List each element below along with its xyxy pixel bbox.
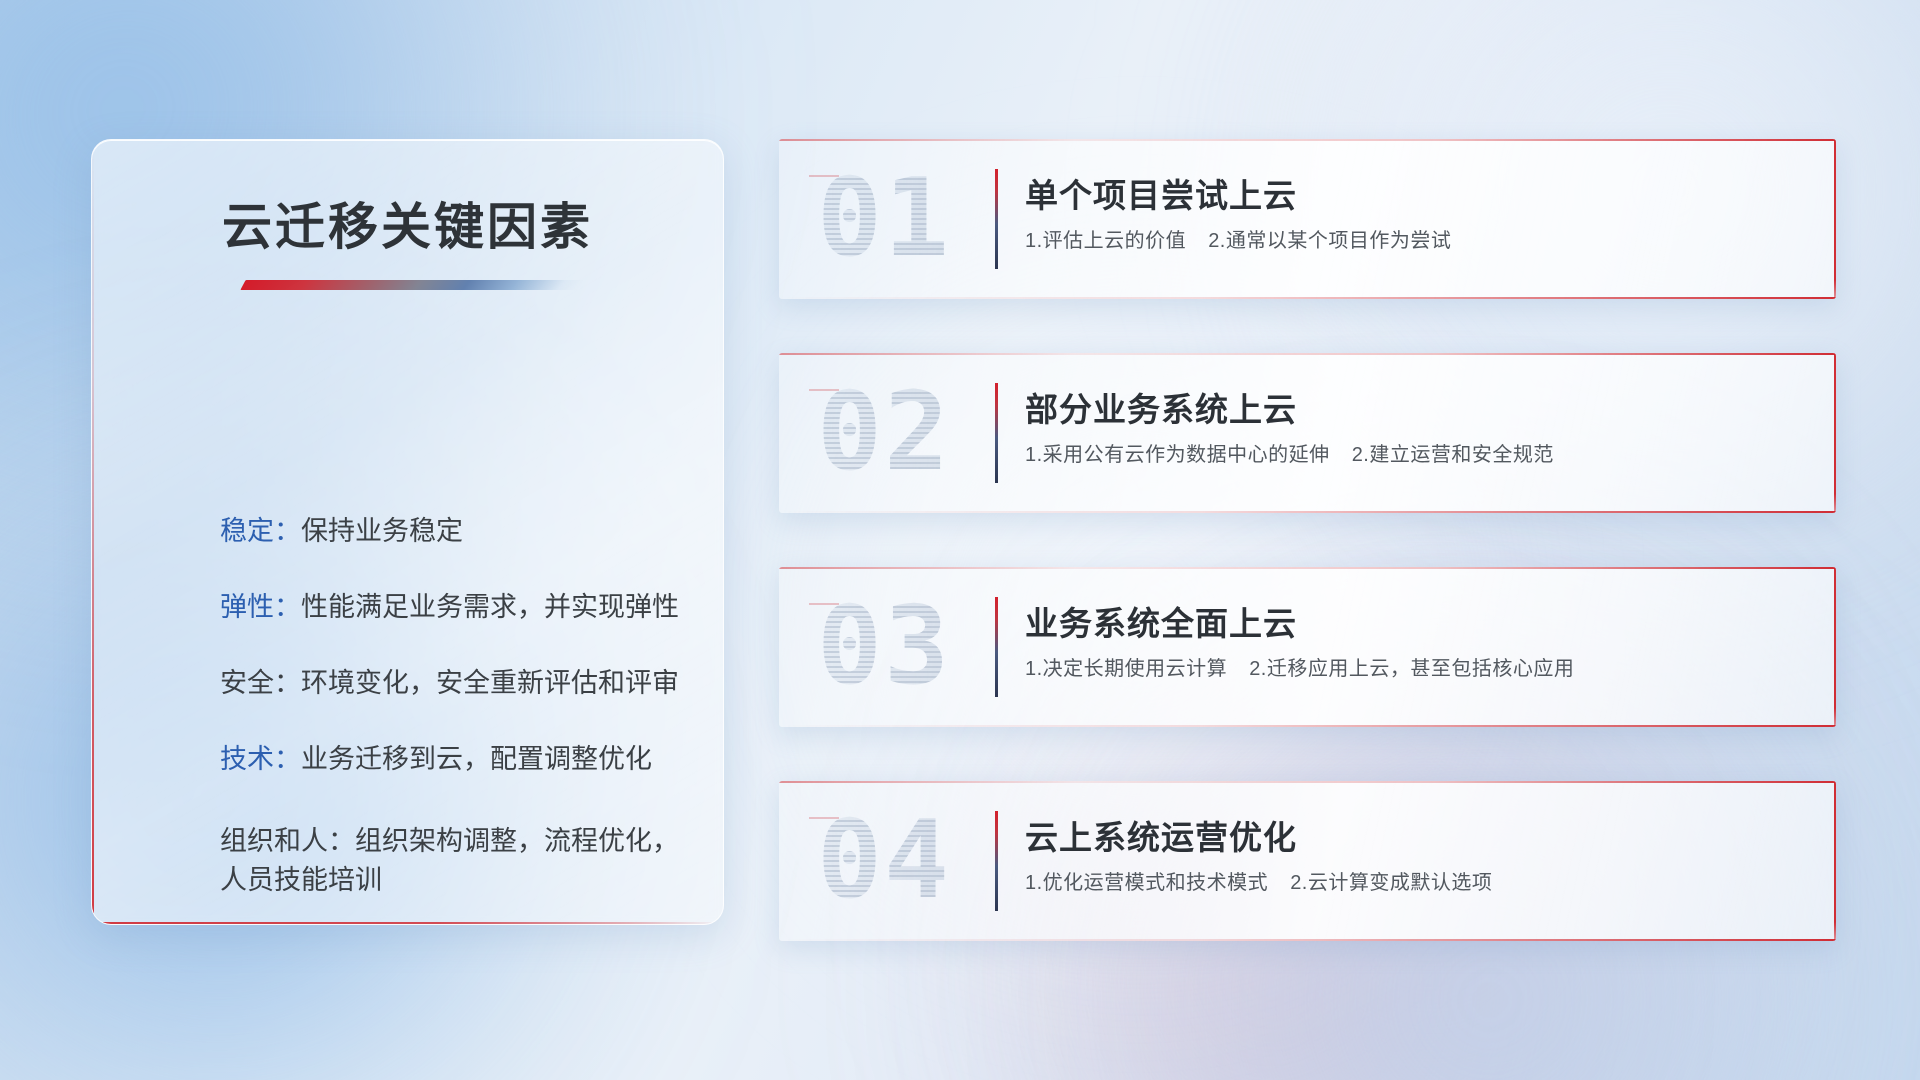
card-bottom-accent bbox=[779, 511, 1836, 513]
list-item-label: 稳定： bbox=[220, 516, 301, 546]
panel-bottom-accent bbox=[92, 922, 723, 924]
card-step-number: 04 bbox=[817, 795, 951, 927]
card-top-accent bbox=[779, 567, 1836, 569]
card-subtitle: 1.决定长期使用云计算2.迁移应用上云，甚至包括核心应用 bbox=[1025, 652, 1574, 681]
card-right-accent bbox=[1834, 781, 1836, 941]
migration-stage-cards: 01 单个项目尝试上云 1.评估上云的价值2.通常以某个项目作为尝试 02 部分… bbox=[779, 139, 1836, 941]
list-item-text: 保持业务稳定 bbox=[301, 516, 463, 546]
list-item: 组织和人：组织架构调整，流程优化，人员技能培训 bbox=[220, 822, 679, 901]
list-item-label: 组织和人： bbox=[220, 826, 355, 856]
card-right-accent bbox=[1834, 353, 1836, 513]
panel-title: 云迁移关键因素 bbox=[92, 187, 723, 259]
panel-title-underline bbox=[240, 280, 583, 290]
card-step-number: 01 bbox=[817, 153, 951, 285]
stage-card[interactable]: 01 单个项目尝试上云 1.评估上云的价值2.通常以某个项目作为尝试 bbox=[779, 139, 1836, 299]
card-subtitle-part-2: 2.迁移应用上云，甚至包括核心应用 bbox=[1249, 658, 1574, 680]
card-subtitle-part-2: 2.通常以某个项目作为尝试 bbox=[1208, 230, 1451, 252]
card-title: 云上系统运营优化 bbox=[1025, 811, 1297, 859]
card-subtitle: 1.评估上云的价值2.通常以某个项目作为尝试 bbox=[1025, 224, 1451, 253]
card-bottom-accent bbox=[779, 939, 1836, 941]
card-subtitle-part-1: 1.评估上云的价值 bbox=[1025, 230, 1186, 252]
card-subtitle-part-1: 1.采用公有云作为数据中心的延伸 bbox=[1025, 444, 1330, 466]
stage-card[interactable]: 04 云上系统运营优化 1.优化运营模式和技术模式2.云计算变成默认选项 bbox=[779, 781, 1836, 941]
card-subtitle-part-1: 1.决定长期使用云计算 bbox=[1025, 658, 1227, 680]
card-divider bbox=[995, 811, 998, 911]
card-title: 部分业务系统上云 bbox=[1025, 383, 1297, 431]
card-title: 单个项目尝试上云 bbox=[1025, 169, 1297, 217]
card-top-accent bbox=[779, 781, 1836, 783]
card-bottom-accent bbox=[779, 725, 1836, 727]
list-item-label: 安全： bbox=[220, 668, 301, 698]
list-item: 弹性：性能满足业务需求，并实现弹性 bbox=[220, 594, 679, 621]
card-divider bbox=[995, 383, 998, 483]
card-right-accent bbox=[1834, 567, 1836, 727]
card-subtitle: 1.优化运营模式和技术模式2.云计算变成默认选项 bbox=[1025, 866, 1492, 895]
list-item-label: 弹性： bbox=[220, 592, 301, 622]
list-item-text: 环境变化，安全重新评估和评审 bbox=[301, 668, 679, 698]
card-step-number: 02 bbox=[817, 367, 951, 499]
card-subtitle-part-1: 1.优化运营模式和技术模式 bbox=[1025, 872, 1268, 894]
key-factors-list: 稳定：保持业务稳定 弹性：性能满足业务需求，并实现弹性 安全：环境变化，安全重新… bbox=[220, 518, 679, 901]
list-item: 安全：环境变化，安全重新评估和评审 bbox=[220, 670, 679, 697]
card-divider bbox=[995, 597, 998, 697]
card-title: 业务系统全面上云 bbox=[1025, 597, 1297, 645]
card-subtitle-part-2: 2.云计算变成默认选项 bbox=[1290, 872, 1492, 894]
slide-stage: 云迁移关键因素 稳定：保持业务稳定 弹性：性能满足业务需求，并实现弹性 安全：环… bbox=[0, 0, 1920, 1080]
list-item: 稳定：保持业务稳定 bbox=[220, 518, 679, 545]
card-top-accent bbox=[779, 353, 1836, 355]
card-right-accent bbox=[1834, 139, 1836, 299]
stage-card[interactable]: 02 部分业务系统上云 1.采用公有云作为数据中心的延伸2.建立运营和安全规范 bbox=[779, 353, 1836, 513]
list-item-text: 业务迁移到云，配置调整优化 bbox=[301, 744, 652, 774]
stage-card[interactable]: 03 业务系统全面上云 1.决定长期使用云计算2.迁移应用上云，甚至包括核心应用 bbox=[779, 567, 1836, 727]
card-subtitle: 1.采用公有云作为数据中心的延伸2.建立运营和安全规范 bbox=[1025, 438, 1554, 467]
card-top-accent bbox=[779, 139, 1836, 141]
key-factors-panel: 云迁移关键因素 稳定：保持业务稳定 弹性：性能满足业务需求，并实现弹性 安全：环… bbox=[91, 139, 724, 925]
card-bottom-accent bbox=[779, 297, 1836, 299]
card-step-number: 03 bbox=[817, 581, 951, 713]
list-item-label: 技术： bbox=[220, 744, 301, 774]
list-item: 技术：业务迁移到云，配置调整优化 bbox=[220, 746, 679, 773]
list-item-text: 性能满足业务需求，并实现弹性 bbox=[301, 592, 679, 622]
card-subtitle-part-2: 2.建立运营和安全规范 bbox=[1352, 444, 1554, 466]
card-divider bbox=[995, 169, 998, 269]
